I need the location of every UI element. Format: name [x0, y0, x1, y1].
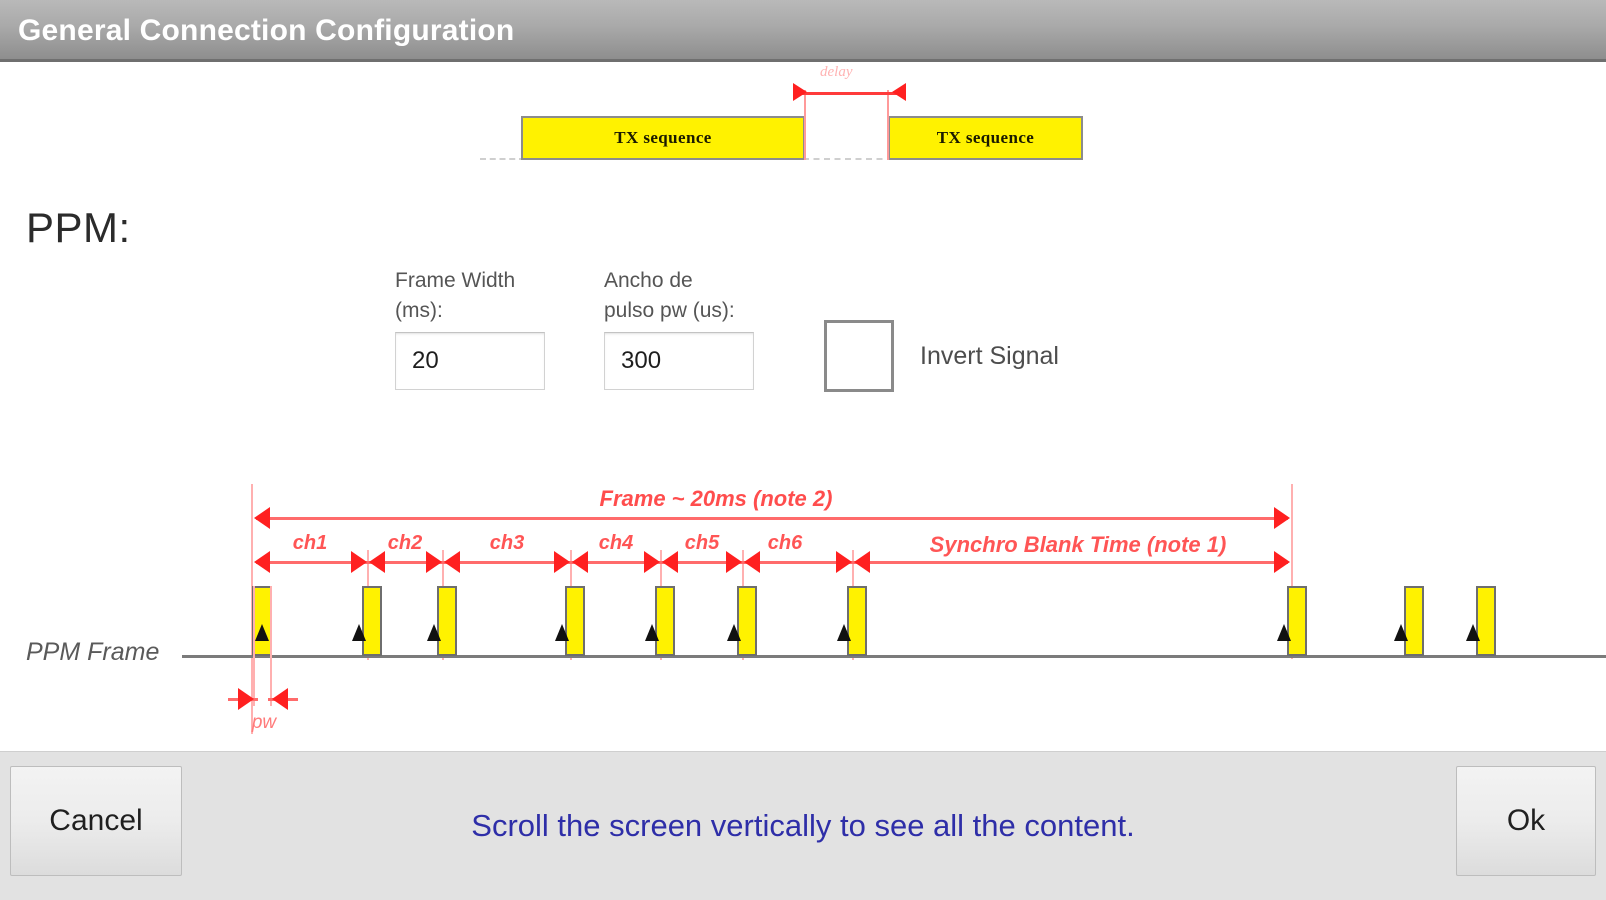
ppm-baseline-axis	[182, 655, 1606, 658]
channel-label-ch1: ch1	[293, 532, 327, 555]
ppm-frame-diagram: Frame ~ 20ms (note 2) ch1 ch2 ch3 ch4 ch…	[0, 460, 1606, 760]
window-title-bar: General Connection Configuration	[0, 0, 1606, 62]
frame-arrow-right-icon	[1274, 507, 1290, 529]
pw-label: pw	[252, 712, 276, 734]
pulse-width-label: Ancho de pulso pw (us):	[604, 266, 754, 326]
frame-arrow-left-icon	[254, 507, 270, 529]
scroll-hint-text: Scroll the screen vertically to see all …	[0, 752, 1606, 900]
cancel-button[interactable]: Cancel	[10, 766, 182, 876]
frame-width-input[interactable]	[395, 332, 545, 390]
pulse-direction-arrow-icon	[255, 624, 269, 641]
pw-arrow-right-icon	[272, 688, 288, 710]
tx-sequence-block-label: TX sequence	[614, 128, 711, 148]
invert-signal-row: Invert Signal	[824, 320, 1059, 392]
channel-boundary-arrow-icon	[444, 551, 460, 573]
tx-sequence-block: TX sequence	[521, 116, 805, 160]
ppm-pulse	[252, 586, 272, 656]
channel-boundary-arrow-icon	[854, 551, 870, 573]
frame-width-field: Frame Width (ms):	[395, 266, 545, 390]
channel-label-ch4: ch4	[599, 532, 633, 555]
delay-edge-right	[887, 90, 889, 160]
invert-signal-label: Invert Signal	[920, 342, 1059, 371]
channel-boundary-arrow-icon	[662, 551, 678, 573]
tx-baseline-left	[480, 158, 525, 160]
channel-label-ch6: ch6	[768, 532, 802, 555]
pulse-direction-arrow-icon	[555, 624, 569, 641]
channel-row-start-arrow-icon	[254, 551, 270, 573]
ppm-frame-axis-label: PPM Frame	[26, 638, 159, 667]
ppm-pulse	[1476, 586, 1496, 656]
delay-arrow-right-icon	[892, 83, 906, 101]
ppm-section-heading: PPM:	[26, 204, 131, 252]
frame-width-label: Frame Width (ms):	[395, 266, 545, 326]
channel-boundary-arrow-icon	[572, 551, 588, 573]
invert-signal-checkbox[interactable]	[824, 320, 894, 392]
channel-boundary-arrow-icon	[744, 551, 760, 573]
channel-boundary-arrow-icon	[369, 551, 385, 573]
pw-arrow-left-icon	[238, 688, 254, 710]
pulse-direction-arrow-icon	[727, 624, 741, 641]
ok-button[interactable]: Ok	[1456, 766, 1596, 876]
channel-label-ch3: ch3	[490, 532, 524, 555]
channel-label-ch5: ch5	[685, 532, 719, 555]
channel-boundary-arrow-icon	[351, 551, 367, 573]
channel-boundary-arrow-icon	[644, 551, 660, 573]
channel-boundary-arrow-icon	[426, 551, 442, 573]
tx-sequence-diagram: TX sequence TX sequence delay	[0, 62, 1606, 182]
frame-dimension-label: Frame ~ 20ms (note 2)	[600, 486, 833, 512]
channel-boundary-arrow-icon	[726, 551, 742, 573]
ppm-pulse	[1404, 586, 1424, 656]
pulse-width-field: Ancho de pulso pw (us):	[604, 266, 754, 390]
tx-sequence-block: TX sequence	[888, 116, 1083, 160]
channel-boundary-arrow-icon	[554, 551, 570, 573]
pulse-direction-arrow-icon	[1277, 624, 1291, 641]
delay-arrow-left-icon	[793, 83, 807, 101]
pulse-direction-arrow-icon	[645, 624, 659, 641]
ppm-pulse	[847, 586, 867, 656]
window-title: General Connection Configuration	[18, 14, 514, 48]
channel-dimension-line	[256, 561, 1288, 564]
ppm-pulse	[565, 586, 585, 656]
delay-dimension-line	[795, 92, 905, 95]
pulse-direction-arrow-icon	[352, 624, 366, 641]
ppm-pulse	[655, 586, 675, 656]
delay-label: delay	[820, 64, 852, 81]
pulse-direction-arrow-icon	[837, 624, 851, 641]
channel-boundary-arrow-icon	[836, 551, 852, 573]
synchro-blank-time-label: Synchro Blank Time (note 1)	[930, 532, 1227, 558]
ppm-pulse	[437, 586, 457, 656]
ppm-pulse	[737, 586, 757, 656]
pulse-width-input[interactable]	[604, 332, 754, 390]
pulse-direction-arrow-icon	[1466, 624, 1480, 641]
ppm-pulse	[362, 586, 382, 656]
frame-dimension-line	[256, 517, 1288, 520]
ppm-pulse	[1287, 586, 1307, 656]
tx-sequence-block-label: TX sequence	[937, 128, 1034, 148]
channel-row-end-arrow-icon	[1274, 551, 1290, 573]
tx-baseline-gap	[803, 158, 893, 160]
channel-label-ch2: ch2	[388, 532, 422, 555]
pulse-direction-arrow-icon	[1394, 624, 1408, 641]
dialog-footer: Cancel Scroll the screen vertically to s…	[0, 751, 1606, 900]
pulse-direction-arrow-icon	[427, 624, 441, 641]
